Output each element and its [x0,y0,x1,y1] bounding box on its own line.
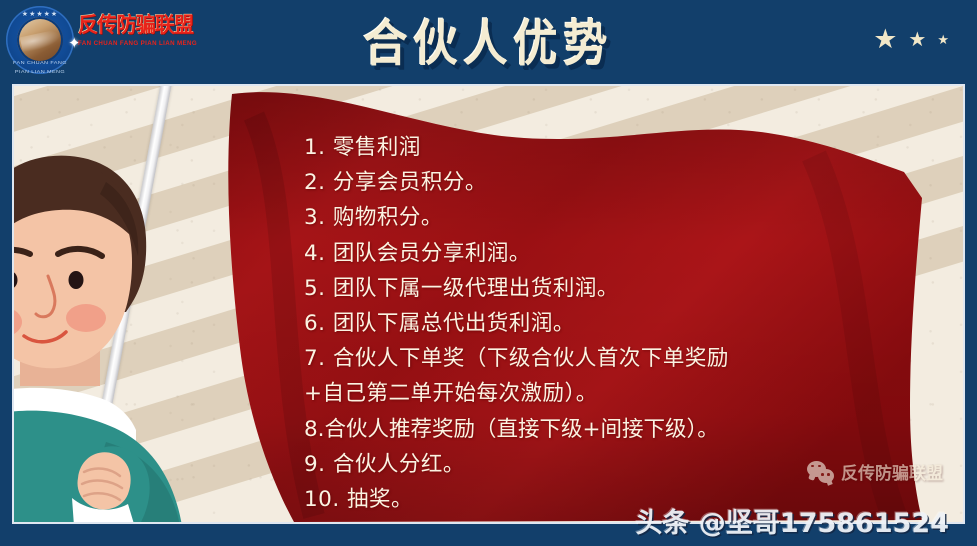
left-border-band [0,84,12,546]
star-icon-small: ★ [937,33,949,46]
toutiao-watermark: 头条 @坚哥175861524 [636,501,949,540]
slide-header: ★★★★★ FAN CHUAN FANG PIAN LIAN MENG ✦ 反传… [0,0,977,84]
star-icon-medium: ★ [908,30,926,50]
list-item: 1. 零售利润 [304,130,924,165]
wechat-watermark-label: 反传防骗联盟 [841,459,943,484]
wechat-icon [807,461,834,483]
header-star-decoration: ★ ★ ★ [873,26,949,53]
list-item: 3. 购物积分。 [304,200,924,235]
right-border-band [965,84,977,546]
list-item: 7. 合伙人下单奖（下级合伙人首次下单奖励 [304,341,924,376]
star-icon-large: ★ [873,26,897,53]
list-item: 8.合伙人推荐奖励（直接下级+间接下级）。 [304,412,924,447]
list-item: 2. 分享会员积分。 [304,165,924,200]
slide-canvas: ★★★★★ FAN CHUAN FANG PIAN LIAN MENG ✦ 反传… [0,0,977,546]
person-illustration [14,86,254,524]
wechat-watermark: 反传防骗联盟 [807,459,943,484]
list-item: 5. 团队下属一级代理出货利润。 [304,271,924,306]
page-title: 合伙人优势 [0,8,977,82]
slide-body: 1. 零售利润 2. 分享会员积分。 3. 购物积分。 4. 团队会员分享利润。… [12,84,965,524]
list-item: 4. 团队会员分享利润。 [304,236,924,271]
list-item: 6. 团队下属总代出货利润。 [304,306,924,341]
list-item-continuation: +自己第二单开始每次激励）。 [304,376,924,411]
